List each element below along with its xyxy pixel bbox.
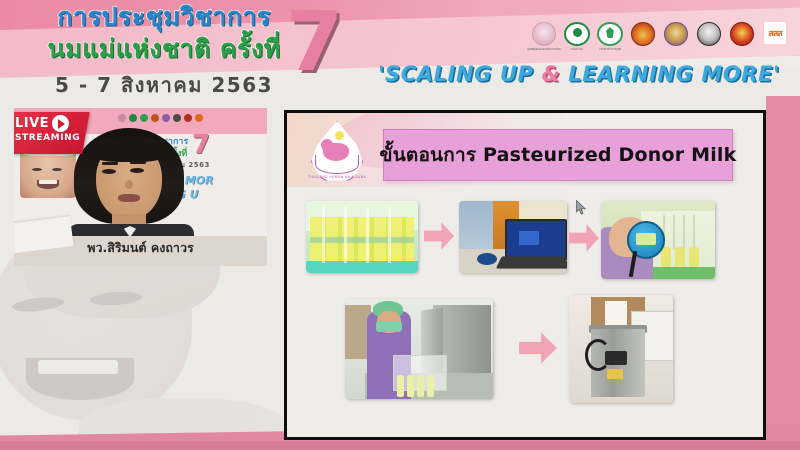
photo-nurse-loading-pasteurizer: [345, 299, 493, 399]
royal-emblem-logo: [630, 22, 656, 52]
event-title-block: การประชุมวิชาการ นมแม่แห่งชาติ ครั้งที่ …: [24, 2, 304, 101]
mouse-cursor: [576, 200, 587, 216]
play-icon: [52, 115, 69, 132]
poster-logo-strip: [118, 114, 203, 122]
slide-title-banner: ขั้นตอนการ Pasteurized Donor Milk: [383, 129, 733, 181]
live-streaming-badge: LIVE STREAMING: [14, 112, 90, 154]
human-milk-bank-logo: THAILAND HUMAN MILK BANK: [301, 119, 373, 191]
event-date: 5 - 7 สิงหาคม 2563: [24, 69, 304, 101]
step-arrow-2: [569, 223, 599, 253]
milk-bank-logo-caption: THAILAND HUMAN MILK BANK: [305, 175, 370, 179]
nursing-council-logo: [729, 22, 755, 52]
slide-broadcast-screen: การประชุมวิชาการ นมแม่แห่งชาติ ครั้งที่ …: [0, 0, 800, 450]
photo-laptop-data-recording: [459, 201, 567, 273]
photo-pasteurizer-machine: [569, 295, 673, 403]
background-right-column: [766, 96, 800, 450]
university-seal-logo: [696, 22, 722, 52]
photo-milk-bottles-on-racks: [306, 201, 418, 273]
tagline-prefix: 'SCALING UP: [378, 62, 542, 86]
photo-hand-holding-thermometer: [601, 201, 715, 279]
step-arrow-1: [424, 221, 454, 251]
presentation-slide[interactable]: THAILAND HUMAN MILK BANK ขั้นตอนการ Past…: [284, 110, 766, 440]
department-of-health-logo: กระทรวงสาธารณสุข: [597, 22, 623, 52]
event-tagline: 'SCALING UP & LEARNING MORE': [364, 62, 794, 86]
royal-college-logo: [663, 22, 689, 52]
event-title-line1: การประชุมวิชาการ: [24, 2, 304, 32]
speaker-name-caption: พว.สิริมนต์ คงถาวร: [14, 238, 267, 258]
sponsor-logo-strip: มูลนิธิศูนย์นมแม่แห่งประเทศไทย กรมอนามัย…: [531, 22, 788, 52]
streaming-badge-label: STREAMING: [15, 133, 87, 143]
tagline-suffix: LEARNING MORE': [560, 62, 780, 86]
live-badge-label: LIVE: [15, 116, 49, 131]
step-arrow-3: [519, 331, 557, 365]
event-title-line2: นมแม่แห่งชาติ ครั้งที่: [24, 33, 304, 65]
thai-breastfeeding-foundation-logo: มูลนิธิศูนย์นมแม่แห่งประเทศไทย: [531, 22, 557, 52]
thaihealth-logo: สสส: [762, 22, 788, 52]
event-edition-number: 7: [286, 2, 343, 84]
ministry-of-public-health-logo: กรมอนามัย: [564, 22, 590, 52]
background-bottom-strip-shadow: [0, 441, 800, 450]
tagline-ampersand: &: [541, 62, 560, 86]
event-header: การประชุมวิชาการ นมแม่แห่งชาติ ครั้งที่ …: [0, 0, 800, 100]
slide-title: ขั้นตอนการ Pasteurized Donor Milk: [380, 140, 737, 170]
